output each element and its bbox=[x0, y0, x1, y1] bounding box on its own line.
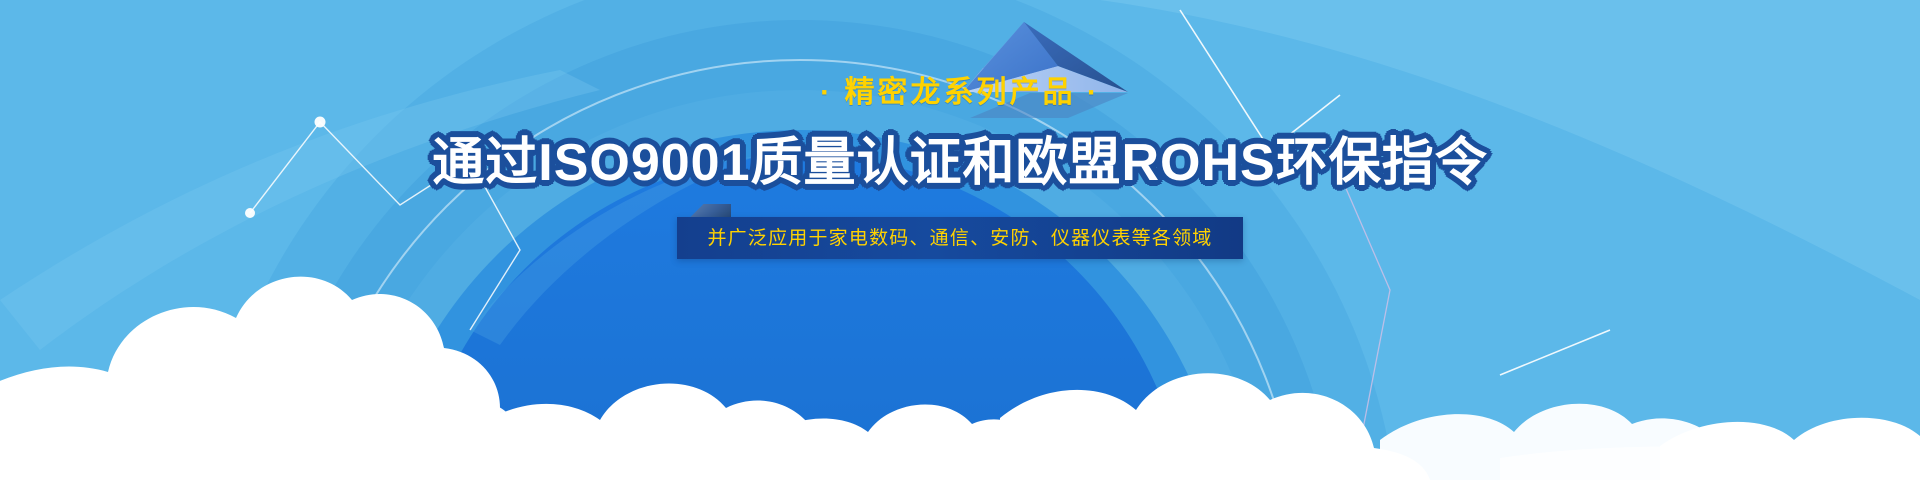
product-certification-banner: · 精密龙系列产品 · 通过ISO9001质量认证和欧盟ROHS环保指令 并广泛… bbox=[0, 0, 1920, 480]
eyebrow-text: · 精密龙系列产品 · bbox=[820, 78, 1100, 108]
page-title: 通过ISO9001质量认证和欧盟ROHS环保指令 bbox=[432, 137, 1488, 189]
subtitle-ribbon-wrap: 并广泛应用于家电数码、通信、安防、仪器仪表等各领域 bbox=[677, 217, 1242, 259]
subtitle-ribbon: 并广泛应用于家电数码、通信、安防、仪器仪表等各领域 bbox=[677, 217, 1242, 259]
